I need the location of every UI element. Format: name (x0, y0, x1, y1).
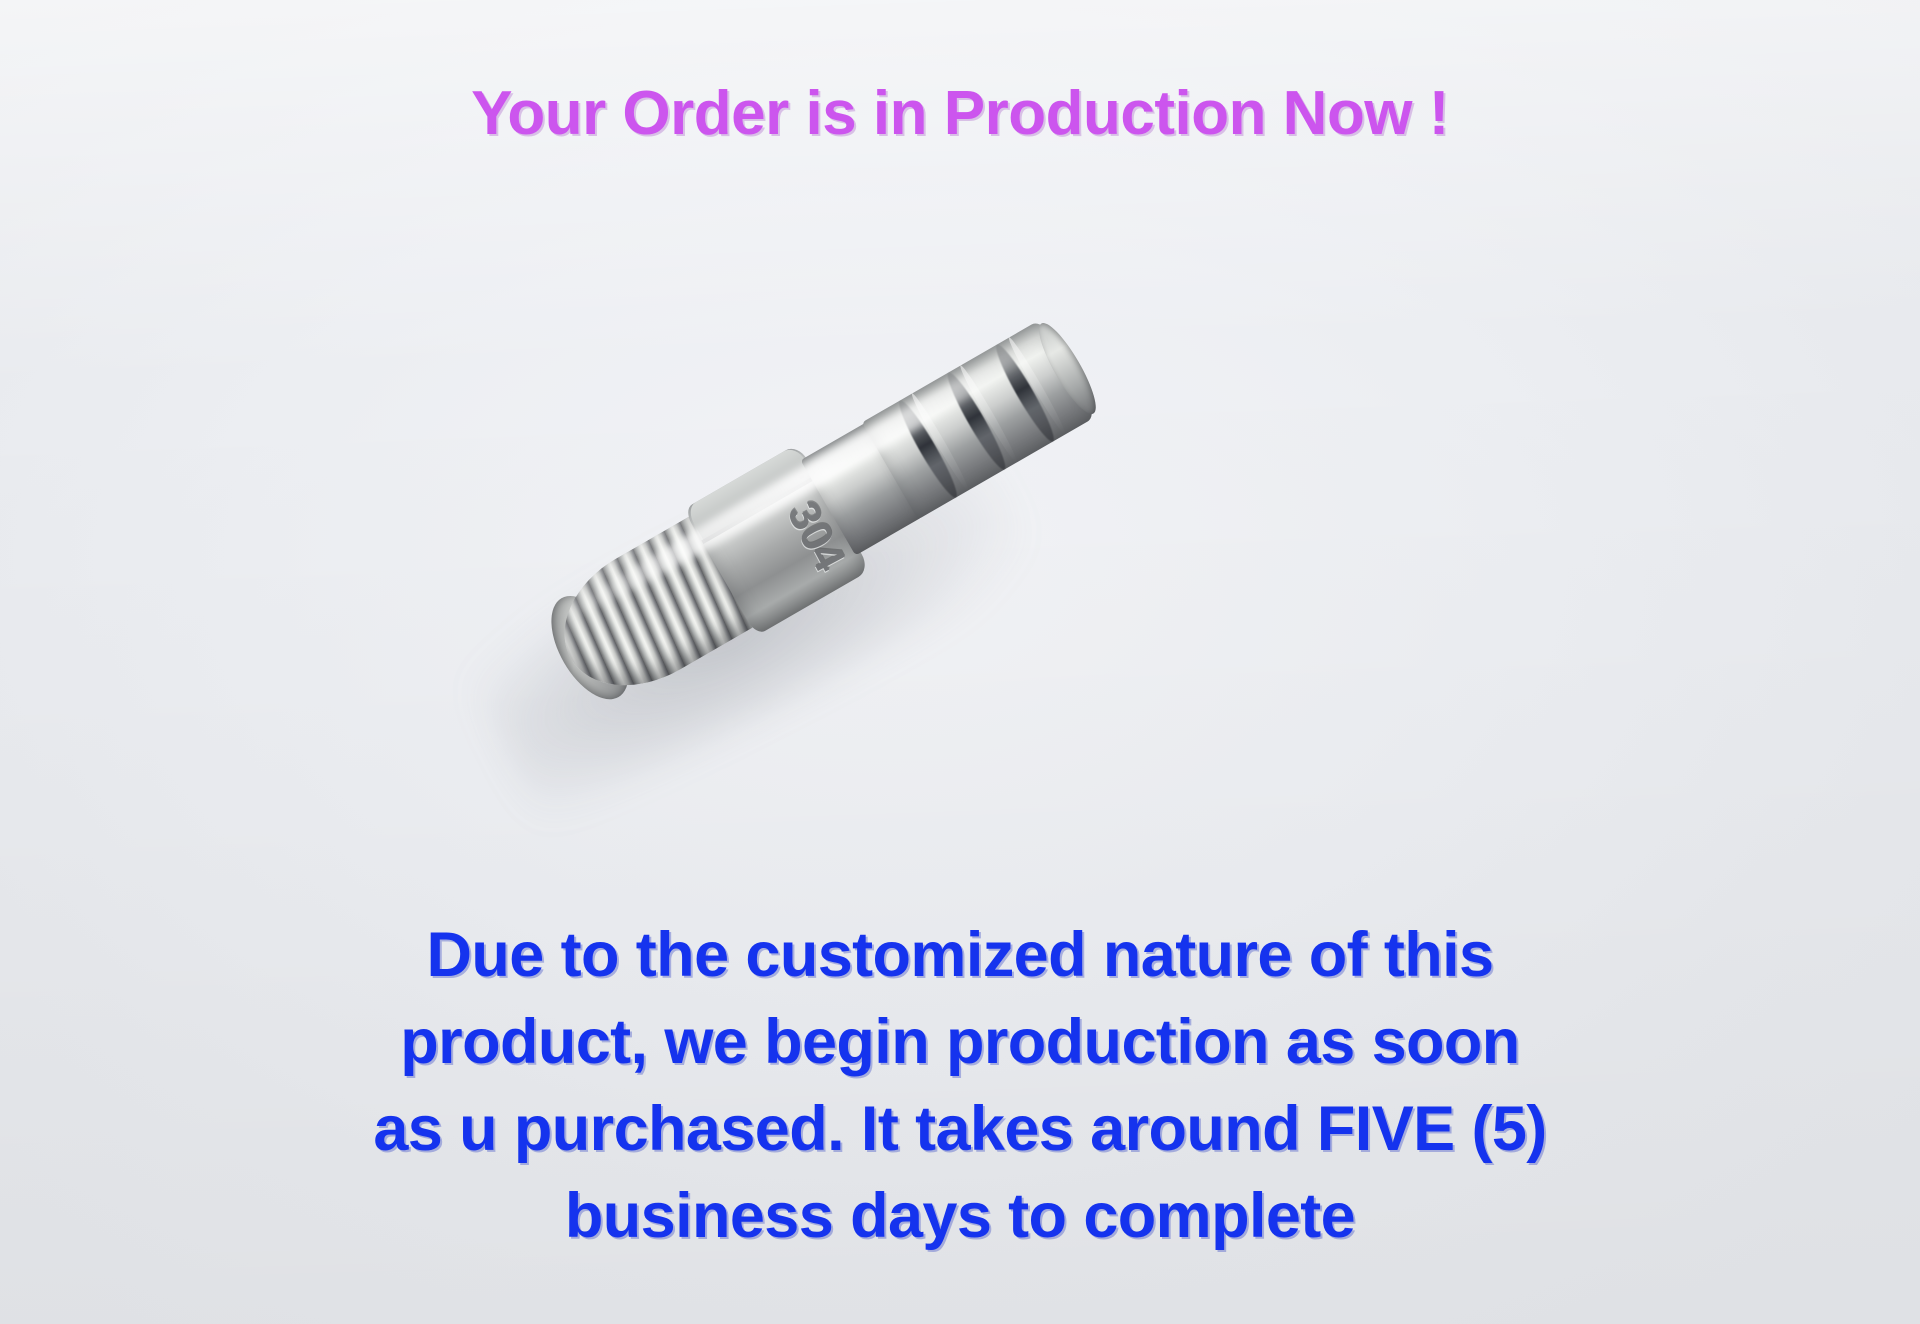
promo-banner: Your Order is in Production Now ! 304 (0, 0, 1920, 1324)
product-image: 304 Stainless steel male NPT threaded ho… (455, 300, 1155, 740)
body-line-3: as u purchased. It takes around FIVE (5) (90, 1086, 1830, 1173)
body-line-2: product, we begin production as soon (90, 999, 1830, 1086)
body-copy: Due to the customized nature of this pro… (90, 912, 1830, 1260)
body-line-1: Due to the customized nature of this (90, 912, 1830, 999)
barb-groove (893, 397, 963, 502)
page-title: Your Order is in Production Now ! (0, 78, 1920, 149)
hose-barb-fitting: 304 (392, 154, 1218, 885)
body-line-4: business days to complete (90, 1173, 1830, 1260)
